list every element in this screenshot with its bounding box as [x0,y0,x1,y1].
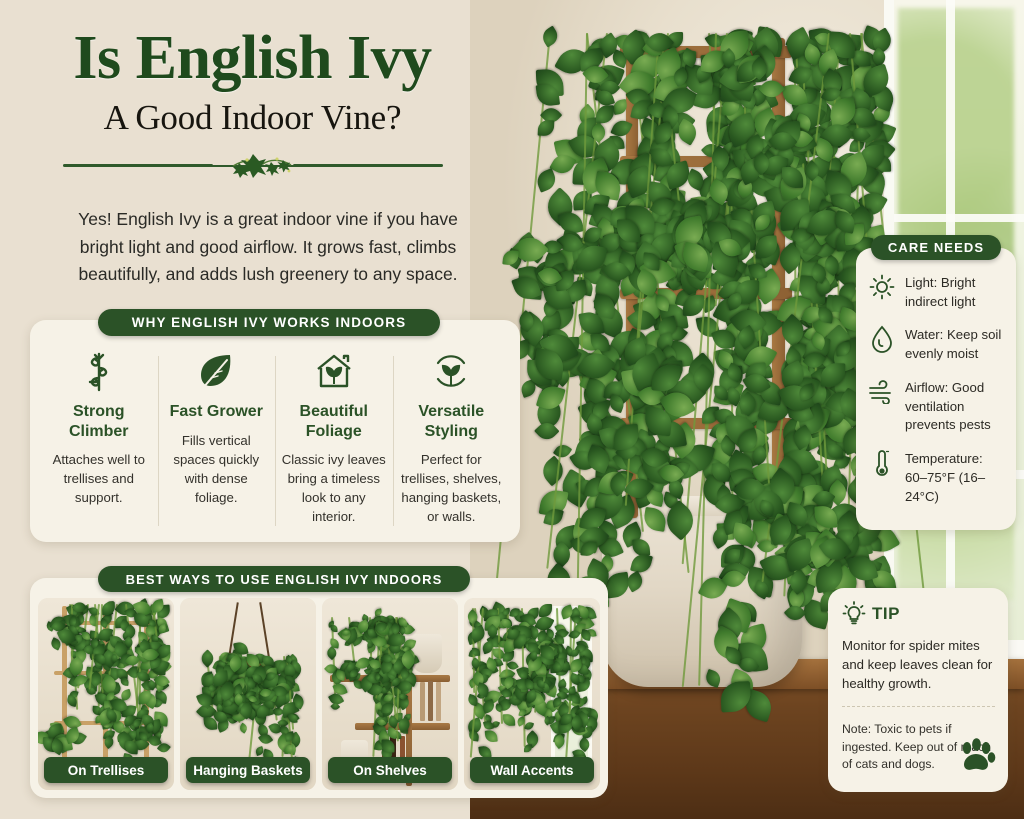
benefit-item-fast-grower: Fast Grower Fills vertical spaces quickl… [158,348,276,532]
gallery-panel-heading: BEST WAYS TO USE ENGLISH IVY INDOORS [98,566,470,592]
tip-body-text: Monitor for spider mites and keep leaves… [842,636,995,693]
benefit-desc: Attaches well to trellises and support. [46,450,152,507]
care-item-light: Light: Bright indirect light [868,272,1006,311]
gallery-panel: On Trellises Hanging Baskets [30,578,608,798]
care-item-temperature: Temperature: 60–75°F (16–24°C) [868,448,1006,506]
infographic-page: Is English Ivy A Good Indoor Vine? Yes! … [0,0,1024,819]
sun-icon [868,272,896,302]
benefit-title: Beautiful Foliage [281,402,387,441]
benefit-title: Fast Grower [164,402,270,422]
circular-arrows-leaves-icon [399,348,505,394]
gallery-item-on-shelves[interactable]: On Shelves [322,598,458,790]
benefit-item-strong-climber: Strong Climber Attaches well to trellise… [40,348,158,532]
gallery-item-on-trellises[interactable]: On Trellises [38,598,174,790]
gallery-caption: On Shelves [328,757,452,783]
wooden-trellis [620,38,800,518]
gallery-item-wall-accents[interactable]: Wall Accents [464,598,600,790]
wind-icon [868,377,896,407]
benefit-title: Versatile Styling [399,402,505,441]
gallery-item-hanging-baskets[interactable]: Hanging Baskets [180,598,316,790]
care-panel-heading: CARE NEEDS [871,235,1001,260]
lightbulb-icon [842,601,866,627]
benefit-title: Strong Climber [46,402,152,441]
why-panel-heading: WHY ENGLISH IVY WORKS INDOORS [98,309,440,336]
page-title: Is English Ivy [0,26,505,92]
leaf-icon [164,348,270,394]
care-text: Water: Keep soil evenly moist [905,324,1006,363]
care-item-water: Water: Keep soil evenly moist [868,324,1006,363]
care-text: Airflow: Good ventilation prevents pests [905,377,1006,435]
care-needs-panel: Light: Bright indirect light Water: Keep… [856,248,1016,530]
benefit-desc: Perfect for trellises, shelves, hanging … [399,450,505,527]
ivy-sprig-divider-icon [63,150,443,180]
house-with-plant-icon [281,348,387,394]
why-ivy-works-panel: Strong Climber Attaches well to trellise… [30,320,520,542]
benefit-desc: Classic ivy leaves bring a timeless look… [281,450,387,527]
gallery-caption: Wall Accents [470,757,594,783]
intro-paragraph: Yes! English Ivy is a great indoor vine … [58,206,478,289]
benefit-desc: Fills vertical spaces quickly with dense… [164,431,270,508]
water-drop-icon [868,324,896,354]
gallery-caption: Hanging Baskets [186,757,310,783]
header-block: Is English Ivy A Good Indoor Vine? [0,26,505,180]
thermometer-icon [868,448,896,478]
tip-label: TIP [872,604,900,624]
benefit-item-beautiful-foliage: Beautiful Foliage Classic ivy leaves bri… [275,348,393,532]
benefit-item-versatile-styling: Versatile Styling Perfect for trellises,… [393,348,511,532]
plant-pot [602,502,802,687]
tip-divider [842,706,995,707]
climbing-vine-pole-icon [46,348,152,394]
gallery-caption: On Trellises [44,757,168,783]
paw-print-icon [956,738,996,776]
care-text: Temperature: 60–75°F (16–24°C) [905,448,1006,506]
care-item-airflow: Airflow: Good ventilation prevents pests [868,377,1006,435]
care-text: Light: Bright indirect light [905,272,1006,311]
tip-panel: TIP Monitor for spider mites and keep le… [828,588,1008,792]
page-subtitle: A Good Indoor Vine? [0,98,505,138]
